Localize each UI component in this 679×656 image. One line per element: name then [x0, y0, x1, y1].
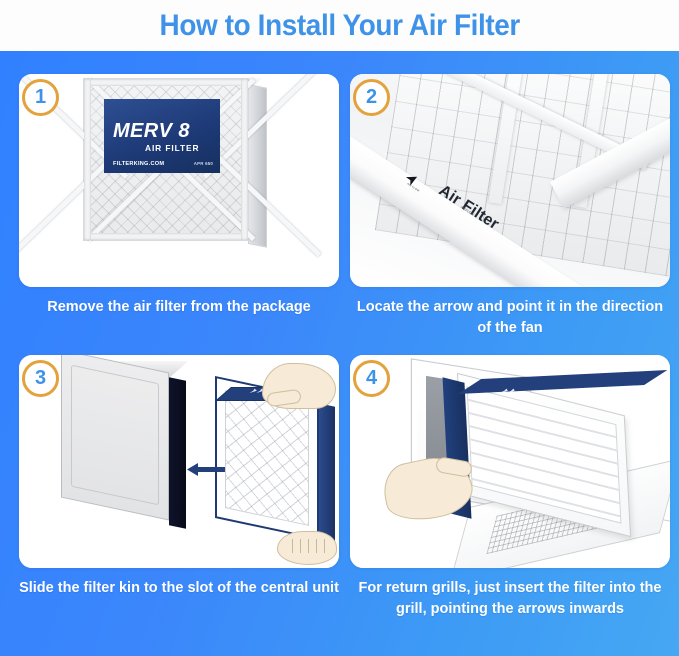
steps-grid: FILTER KING MADE IN USA	[0, 51, 679, 656]
step-number-badge-1: 1	[22, 79, 59, 116]
step-card-3: ➤➤ 3 Slide the filter kin to the slot of…	[19, 355, 339, 599]
step-number-badge-2: 2	[353, 79, 390, 116]
central-unit-inner-border	[71, 365, 159, 506]
slide-filter-into-unit-illustration: ➤➤	[19, 355, 339, 568]
step-2-image-card: ➤ AIR FLOW Air Filter AIRFLOW	[350, 74, 670, 287]
new-filter-mesh	[225, 390, 309, 526]
step-caption-1: Remove the air filter from the package	[19, 297, 339, 318]
hand-lower-fingers	[285, 539, 325, 553]
filter-product-label: FILTER KING MADE IN USA	[104, 99, 220, 173]
new-filter-side-face	[319, 403, 335, 548]
apr-rating-text: APR 650	[194, 161, 213, 166]
step-card-1: FILTER KING MADE IN USA	[19, 74, 339, 318]
step-3-image-card: ➤➤	[19, 355, 339, 568]
page-title: How to Install Your Air Filter	[159, 11, 519, 41]
central-unit-slot-dark	[169, 377, 186, 529]
step-1-image-card: FILTER KING MADE IN USA	[19, 74, 339, 287]
step-caption-3: Slide the filter kin to the slot of the …	[19, 578, 339, 599]
website-text: FILTERKING.COM	[113, 161, 164, 167]
step-number-badge-3: 3	[22, 360, 59, 397]
air-filter-subtitle: AIR FILTER	[145, 143, 199, 153]
step-caption-4: For return grills, just insert the filte…	[350, 578, 670, 620]
label-footer-strip: FILTERKING.COM APR 650	[113, 161, 213, 167]
filter-edge-left	[84, 79, 91, 240]
filter-front-face: FILTER KING MADE IN USA	[83, 78, 249, 241]
filter-edge-bottom	[84, 233, 248, 240]
central-unit-front	[61, 355, 169, 520]
infographic-poster: How to Install Your Air Filter	[0, 0, 679, 656]
return-grill-insert-illustration: ➤➤	[350, 355, 670, 568]
step-card-4: ➤➤ 4 For return grills, just insert the …	[350, 355, 670, 620]
step-number-badge-4: 4	[353, 360, 390, 397]
filter-edge-right	[241, 79, 248, 240]
air-filter-package-photo: FILTER KING MADE IN USA	[19, 74, 339, 287]
filter-side-face	[248, 84, 267, 248]
filter-corner-arrow-photo: ➤ AIR FLOW Air Filter AIRFLOW	[350, 74, 670, 287]
slide-direction-arrow-icon	[187, 463, 225, 476]
step-4-image-card: ➤➤	[350, 355, 670, 568]
filter-edge-top	[84, 79, 248, 86]
step-card-2: ➤ AIR FLOW Air Filter AIRFLOW 2 Locate t…	[350, 74, 670, 339]
merv-rating-text: MERV 8	[113, 121, 190, 141]
step-caption-2: Locate the arrow and point it in the dir…	[350, 297, 670, 339]
header-band: How to Install Your Air Filter	[0, 0, 679, 51]
